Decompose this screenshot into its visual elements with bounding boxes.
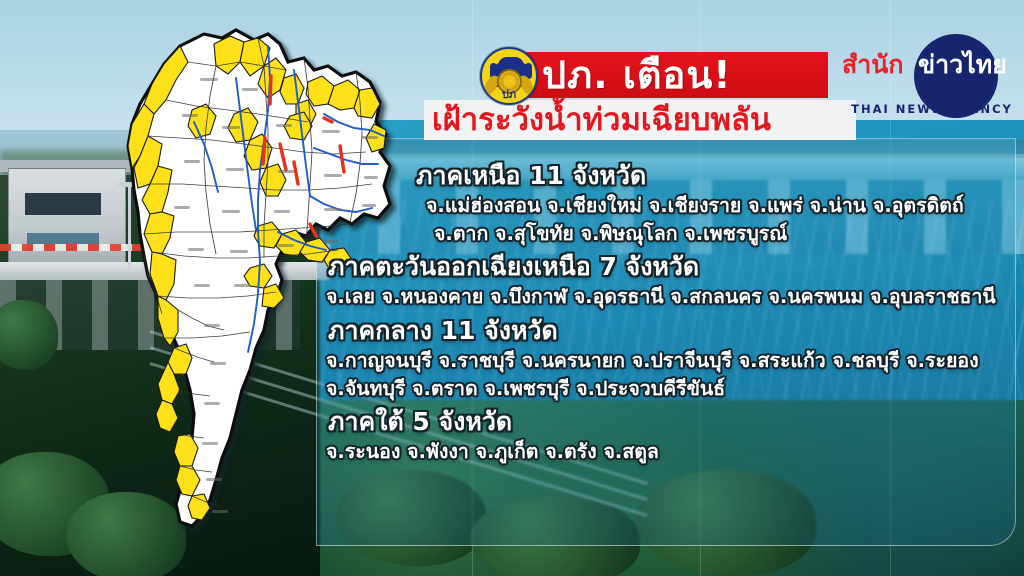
region-heading-north: ภาคเหนือ 11 จังหวัด xyxy=(316,160,1016,192)
region-heading-northeast: ภาคตะวันออกเฉียงเหนือ 7 จังหวัด xyxy=(316,251,1016,283)
alert-headline-banner: ปภ. เตือน! xyxy=(510,52,828,98)
region-heading-central: ภาคกลาง 11 จังหวัด xyxy=(316,315,1016,347)
region-provinces-north-line1: จ.แม่ฮ่องสอน จ.เชียงใหม่ จ.เชียงราย จ.แพ… xyxy=(316,192,1016,220)
region-list: ภาคเหนือ 11 จังหวัด จ.แม่ฮ่องสอน จ.เชียง… xyxy=(316,160,1016,470)
tna-english-name: THAI NEWS AGENCY xyxy=(848,102,1016,116)
region-provinces-north-line2: จ.ตาก จ.สุโขทัย จ.พิษณุโลก จ.เพชรบูรณ์ xyxy=(316,220,1016,248)
region-provinces-central-line2: จ.จันทบุรี จ.ตราด จ.เพชรบุรี จ.ประจวบคีร… xyxy=(316,375,1016,403)
region-provinces-south-line1: จ.ระนอง จ.พังงา จ.ภูเก็ต จ.ตรัง จ.สตูล xyxy=(316,438,1016,466)
tna-word-khaothai: ข่าวไทย xyxy=(918,52,1007,77)
building-windows xyxy=(23,193,101,215)
subheadline-text: เฝ้าระวังน้ำท่วมเฉียบพลัน xyxy=(424,105,771,136)
region-block-south: ภาคใต้ 5 จังหวัด จ.ระนอง จ.พังงา จ.ภูเก็… xyxy=(316,406,1016,466)
region-provinces-northeast-line1: จ.เลย จ.หนองคาย จ.บึงกาฬ จ.อุดรธานี จ.สก… xyxy=(316,283,1016,311)
tna-word-samnak: สำนัก xyxy=(842,52,904,77)
subheadline-banner: เฝ้าระวังน้ำท่วมเฉียบพลัน xyxy=(424,100,856,140)
thai-news-agency-logo: สำนัก ข่าวไทย THAI NEWS AGENCY xyxy=(830,34,1016,120)
region-block-northeast: ภาคตะวันออกเฉียงเหนือ 7 จังหวัด จ.เลย จ.… xyxy=(316,251,1016,311)
ppb-department-logo-icon: ปภ xyxy=(480,47,538,105)
ppb-logo-abbr: ปภ xyxy=(482,89,536,100)
region-heading-south: ภาคใต้ 5 จังหวัด xyxy=(316,406,1016,438)
region-block-north: ภาคเหนือ 11 จังหวัด จ.แม่ฮ่องสอน จ.เชียง… xyxy=(316,160,1016,247)
foreground-bush xyxy=(0,300,58,370)
region-provinces-central-line1: จ.กาญจนบุรี จ.ราชบุรี จ.นครนายก จ.ปราจีน… xyxy=(316,347,1016,375)
region-block-central: ภาคกลาง 11 จังหวัด จ.กาญจนบุรี จ.ราชบุรี… xyxy=(316,315,1016,402)
infographic-canvas: ปภ. เตือน! เฝ้าระวังน้ำท่วมเฉียบพลัน ปภ … xyxy=(0,0,1024,576)
alert-headline-text: ปภ. เตือน! xyxy=(510,56,732,94)
